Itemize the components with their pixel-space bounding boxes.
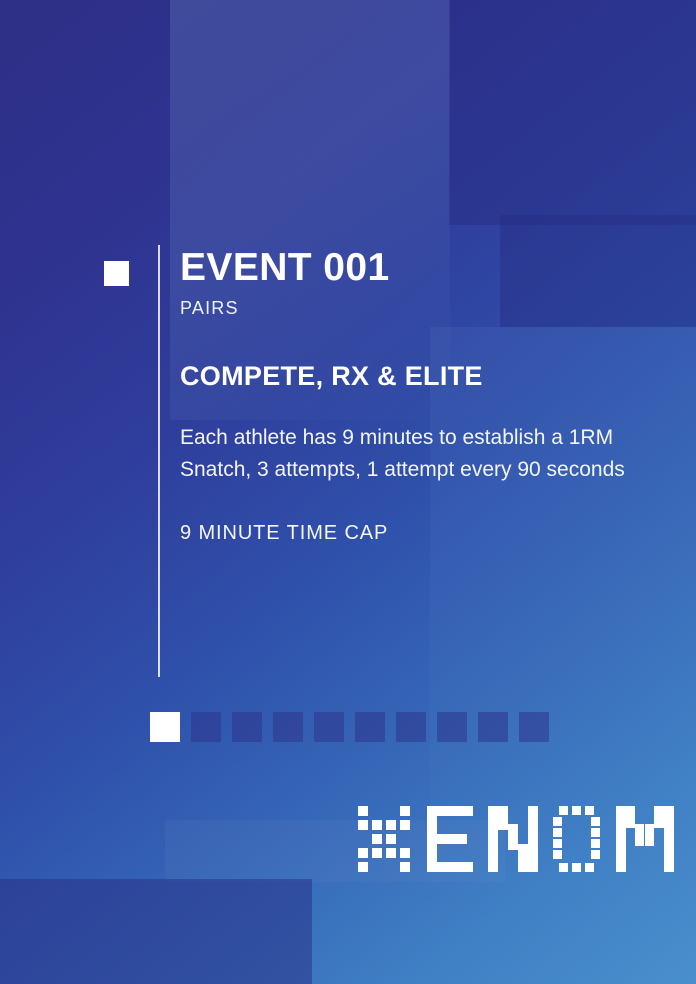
- logo-letter-m-icon: [616, 806, 676, 878]
- event-progress-row: [150, 712, 549, 742]
- workout-description: Each athlete has 9 minutes to establish …: [180, 422, 632, 486]
- logo-letter-x-icon: [358, 806, 414, 878]
- division-title: COMPETE, RX & ELITE: [180, 363, 650, 390]
- progress-square-3[interactable]: [232, 712, 262, 742]
- logo-letter-o-icon: [553, 806, 603, 878]
- page-title: EVENT 001: [180, 248, 650, 287]
- event-poster: EVENT 001 PAIRS COMPETE, RX & ELITE Each…: [0, 0, 696, 984]
- progress-square-7[interactable]: [396, 712, 426, 742]
- accent-square-icon: [104, 261, 129, 286]
- event-subtitle: PAIRS: [180, 299, 650, 317]
- progress-square-4[interactable]: [273, 712, 303, 742]
- logo-letter-n-icon: [488, 806, 540, 878]
- event-details: EVENT 001 PAIRS COMPETE, RX & ELITE Each…: [180, 248, 650, 543]
- progress-square-8[interactable]: [437, 712, 467, 742]
- time-cap-label: 9 MINUTE TIME CAP: [180, 523, 650, 543]
- vertical-divider: [158, 245, 160, 677]
- xenom-logo: [358, 806, 676, 878]
- progress-square-6[interactable]: [355, 712, 385, 742]
- progress-square-1[interactable]: [150, 712, 180, 742]
- progress-square-9[interactable]: [478, 712, 508, 742]
- progress-square-10[interactable]: [519, 712, 549, 742]
- progress-square-5[interactable]: [314, 712, 344, 742]
- poster-content: EVENT 001 PAIRS COMPETE, RX & ELITE Each…: [0, 0, 696, 984]
- progress-square-2[interactable]: [191, 712, 221, 742]
- logo-letter-e-icon: [427, 806, 475, 878]
